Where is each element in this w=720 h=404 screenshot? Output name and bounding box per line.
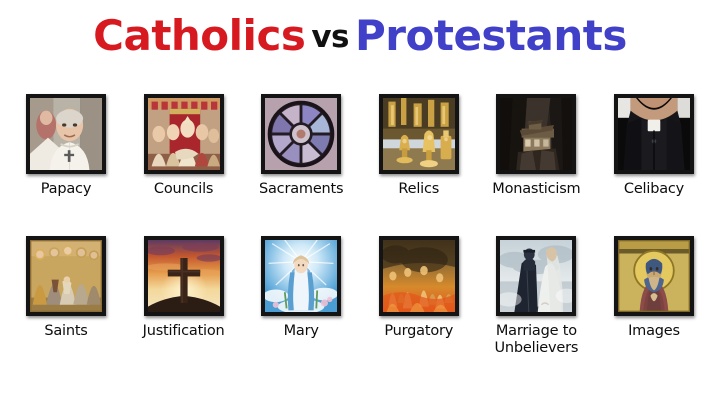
topic-label: Purgatory: [384, 323, 453, 340]
purgatory-painting-icon: [383, 240, 455, 312]
gold-reliquaries-icon: [383, 98, 455, 170]
justification-thumbnail[interactable]: [144, 236, 224, 316]
page-title: CatholicsvsProtestants: [0, 12, 720, 60]
topic-label: Images: [628, 323, 680, 340]
topic-tile-celibacy[interactable]: Celibacy: [602, 94, 706, 198]
saints-thumbnail[interactable]: [26, 236, 106, 316]
topic-label: Justification: [143, 323, 225, 340]
topic-tile-marriage-to-unbelievers[interactable]: Marriage to Unbelievers: [484, 236, 588, 357]
purgatory-thumbnail[interactable]: [379, 236, 459, 316]
sacraments-thumbnail[interactable]: [261, 94, 341, 174]
topic-label: Marriage to Unbelievers: [495, 323, 579, 357]
topic-tile-papacy[interactable]: Papacy: [14, 94, 118, 198]
topic-label: Monasticism: [492, 181, 580, 198]
topic-label: Councils: [154, 181, 213, 198]
title-right-term: Protestants: [355, 11, 627, 60]
topic-row-1: Papacy: [0, 94, 720, 198]
title-versus: vs: [305, 19, 355, 55]
saints-icon-panel-icon: [30, 240, 102, 312]
topic-label: Relics: [398, 181, 439, 198]
topic-tile-monasticism[interactable]: Monasticism: [484, 94, 588, 198]
pope-photo-icon: [30, 98, 102, 170]
topic-row-2: Saints: [0, 236, 720, 357]
bride-and-groom-icon: [500, 240, 572, 312]
topic-tile-councils[interactable]: Councils: [132, 94, 236, 198]
topic-label: Papacy: [41, 181, 91, 198]
monasticism-thumbnail[interactable]: [496, 94, 576, 174]
slide-canvas: CatholicsvsProtestants: [0, 0, 720, 404]
papacy-thumbnail[interactable]: [26, 94, 106, 174]
topic-label: Celibacy: [624, 181, 684, 198]
images-thumbnail[interactable]: [614, 236, 694, 316]
topic-tile-purgatory[interactable]: Purgatory: [367, 236, 471, 357]
topic-tile-relics[interactable]: Relics: [367, 94, 471, 198]
topic-tile-saints[interactable]: Saints: [14, 236, 118, 357]
clerical-collar-icon: [618, 98, 690, 170]
councils-thumbnail[interactable]: [144, 94, 224, 174]
topic-tile-images[interactable]: Images: [602, 236, 706, 357]
virgin-mary-icon: [265, 240, 337, 312]
relics-thumbnail[interactable]: [379, 94, 459, 174]
topic-label: Mary: [284, 323, 319, 340]
topic-tile-mary[interactable]: Mary: [249, 236, 353, 357]
cross-at-sunset-icon: [148, 240, 220, 312]
topic-label: Sacraments: [259, 181, 343, 198]
cliff-monastery-icon: [500, 98, 572, 170]
celibacy-thumbnail[interactable]: [614, 94, 694, 174]
byzantine-icon-icon: [618, 240, 690, 312]
topic-label: Saints: [44, 323, 87, 340]
topic-tile-justification[interactable]: Justification: [132, 236, 236, 357]
council-painting-icon: [148, 98, 220, 170]
rose-window-icon: [265, 98, 337, 170]
marriage-thumbnail[interactable]: [496, 236, 576, 316]
topic-tile-sacraments[interactable]: Sacraments: [249, 94, 353, 198]
mary-thumbnail[interactable]: [261, 236, 341, 316]
title-left-term: Catholics: [93, 11, 305, 60]
